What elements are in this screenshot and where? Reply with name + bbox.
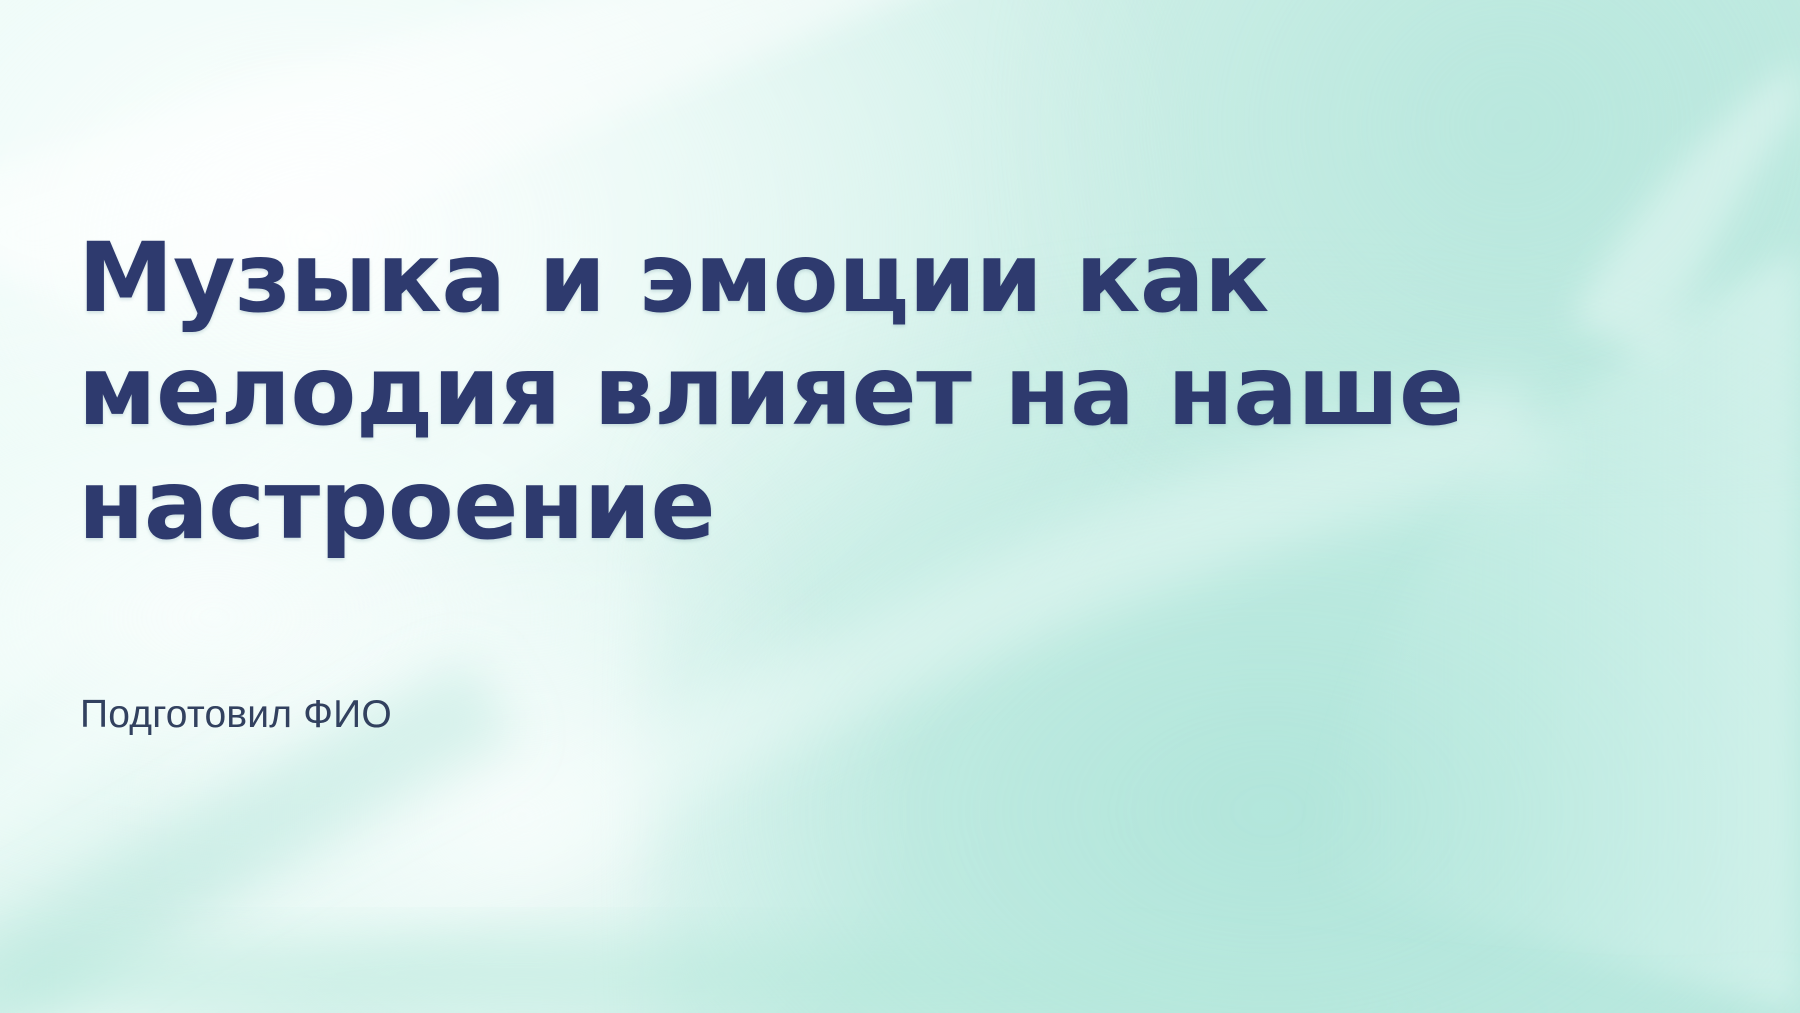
slide-subtitle-author: Подготовил ФИО — [80, 692, 392, 739]
slide-text-block: Музыка и эмоции как мелодия влияет на на… — [78, 0, 1498, 1013]
page-title: Музыка и эмоции как мелодия влияет на на… — [78, 222, 1478, 562]
title-slide: Музыка и эмоции как мелодия влияет на на… — [0, 0, 1800, 1013]
